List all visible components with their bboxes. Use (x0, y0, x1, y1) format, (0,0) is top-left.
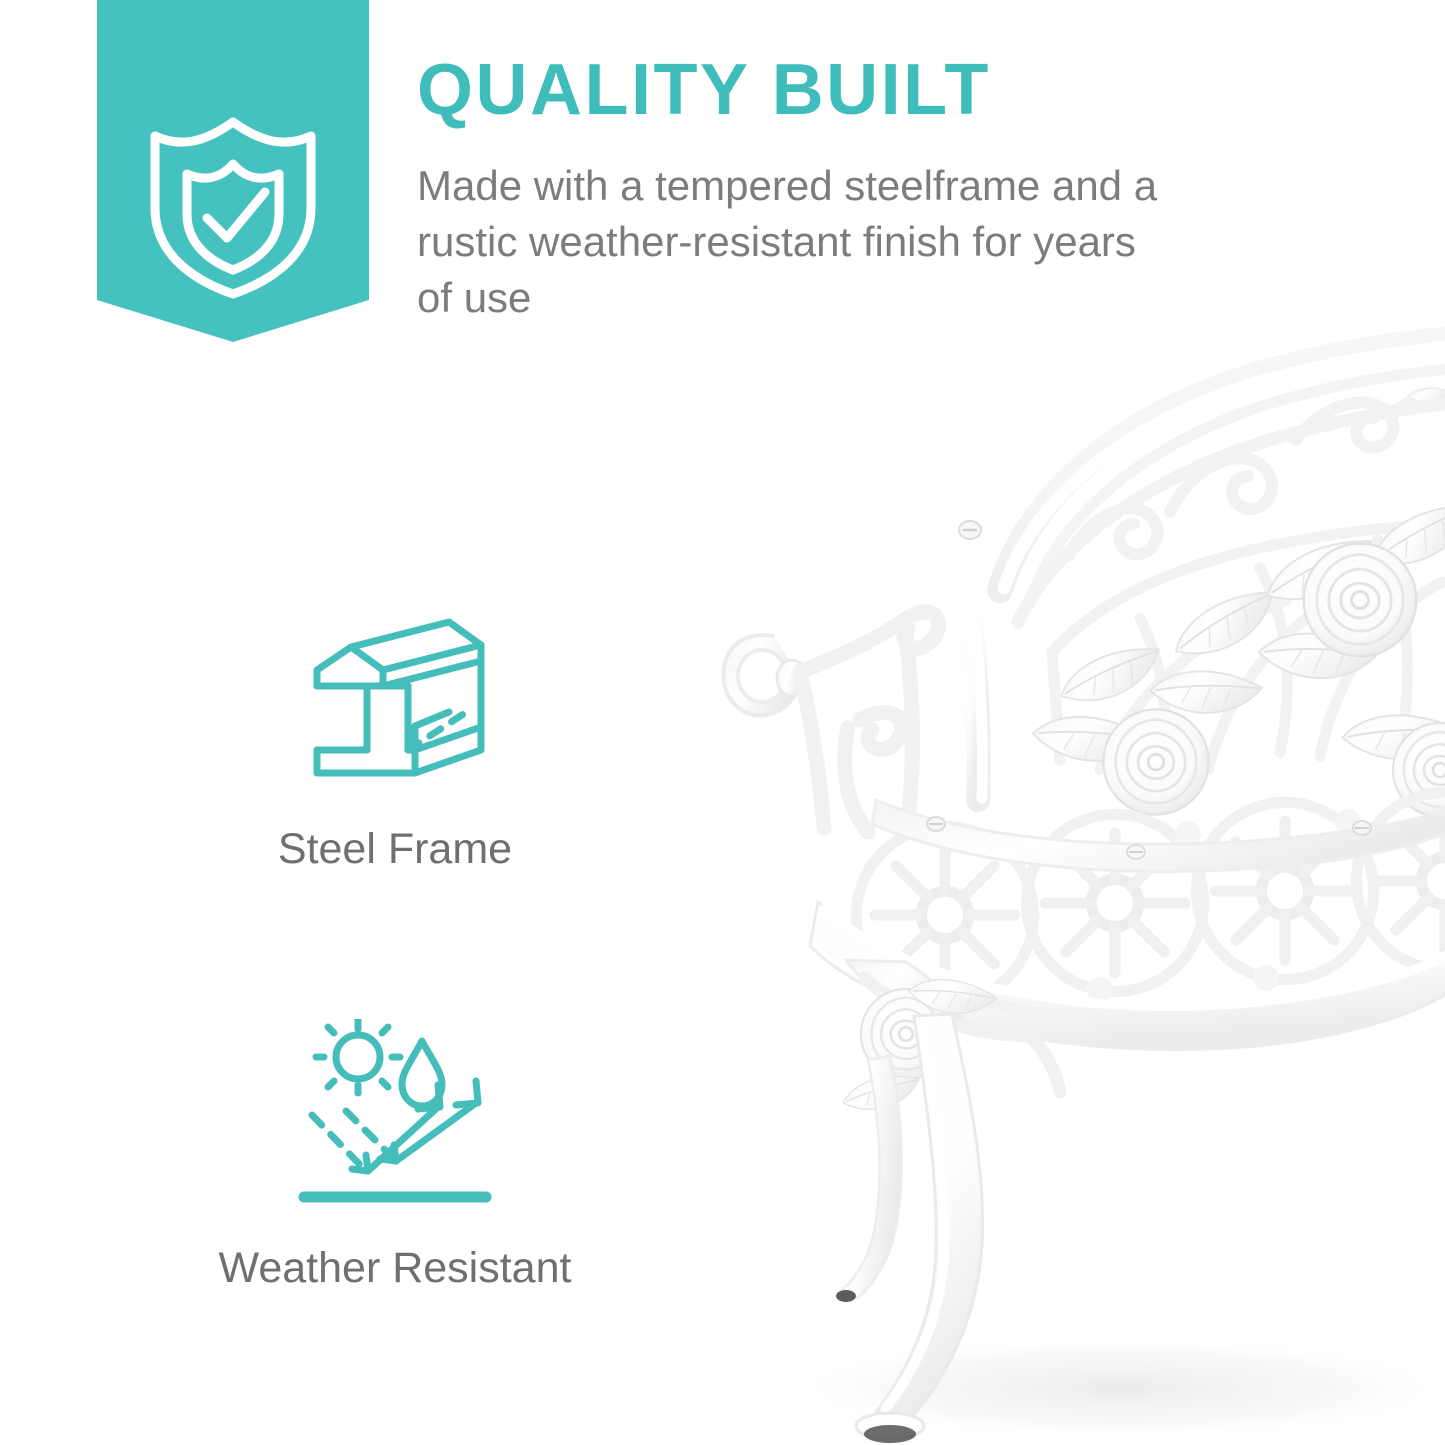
page-title: QUALITY BUILT (417, 54, 1177, 126)
feature-item-steel-frame: Steel Frame (150, 600, 640, 873)
product-feature-infographic: QUALITY BUILT Made with a tempered steel… (0, 0, 1445, 1445)
header-text-block: QUALITY BUILT Made with a tempered steel… (417, 54, 1177, 326)
inner-foot-glide (836, 1290, 856, 1302)
feature-label: Steel Frame (150, 826, 640, 873)
rose-motif (1304, 544, 1417, 657)
product-image (700, 300, 1445, 1445)
quality-badge-banner (97, 0, 369, 342)
bench-backrest (959, 338, 1445, 817)
feature-item-weather-resistant: Weather Resistant (150, 1019, 640, 1292)
i-beam-icon (295, 600, 495, 800)
foot-glide (864, 1425, 916, 1443)
bench-illustration (700, 300, 1445, 1445)
feature-list: Steel Frame (150, 600, 640, 1293)
rose-motif (1103, 709, 1208, 814)
bench-armrest (723, 612, 938, 832)
page-subtitle: Made with a tempered steelframe and a ru… (417, 126, 1177, 326)
shield-check-icon (143, 112, 323, 302)
feature-label: Weather Resistant (150, 1245, 640, 1292)
sun-water-reflect-icon (290, 1019, 500, 1219)
